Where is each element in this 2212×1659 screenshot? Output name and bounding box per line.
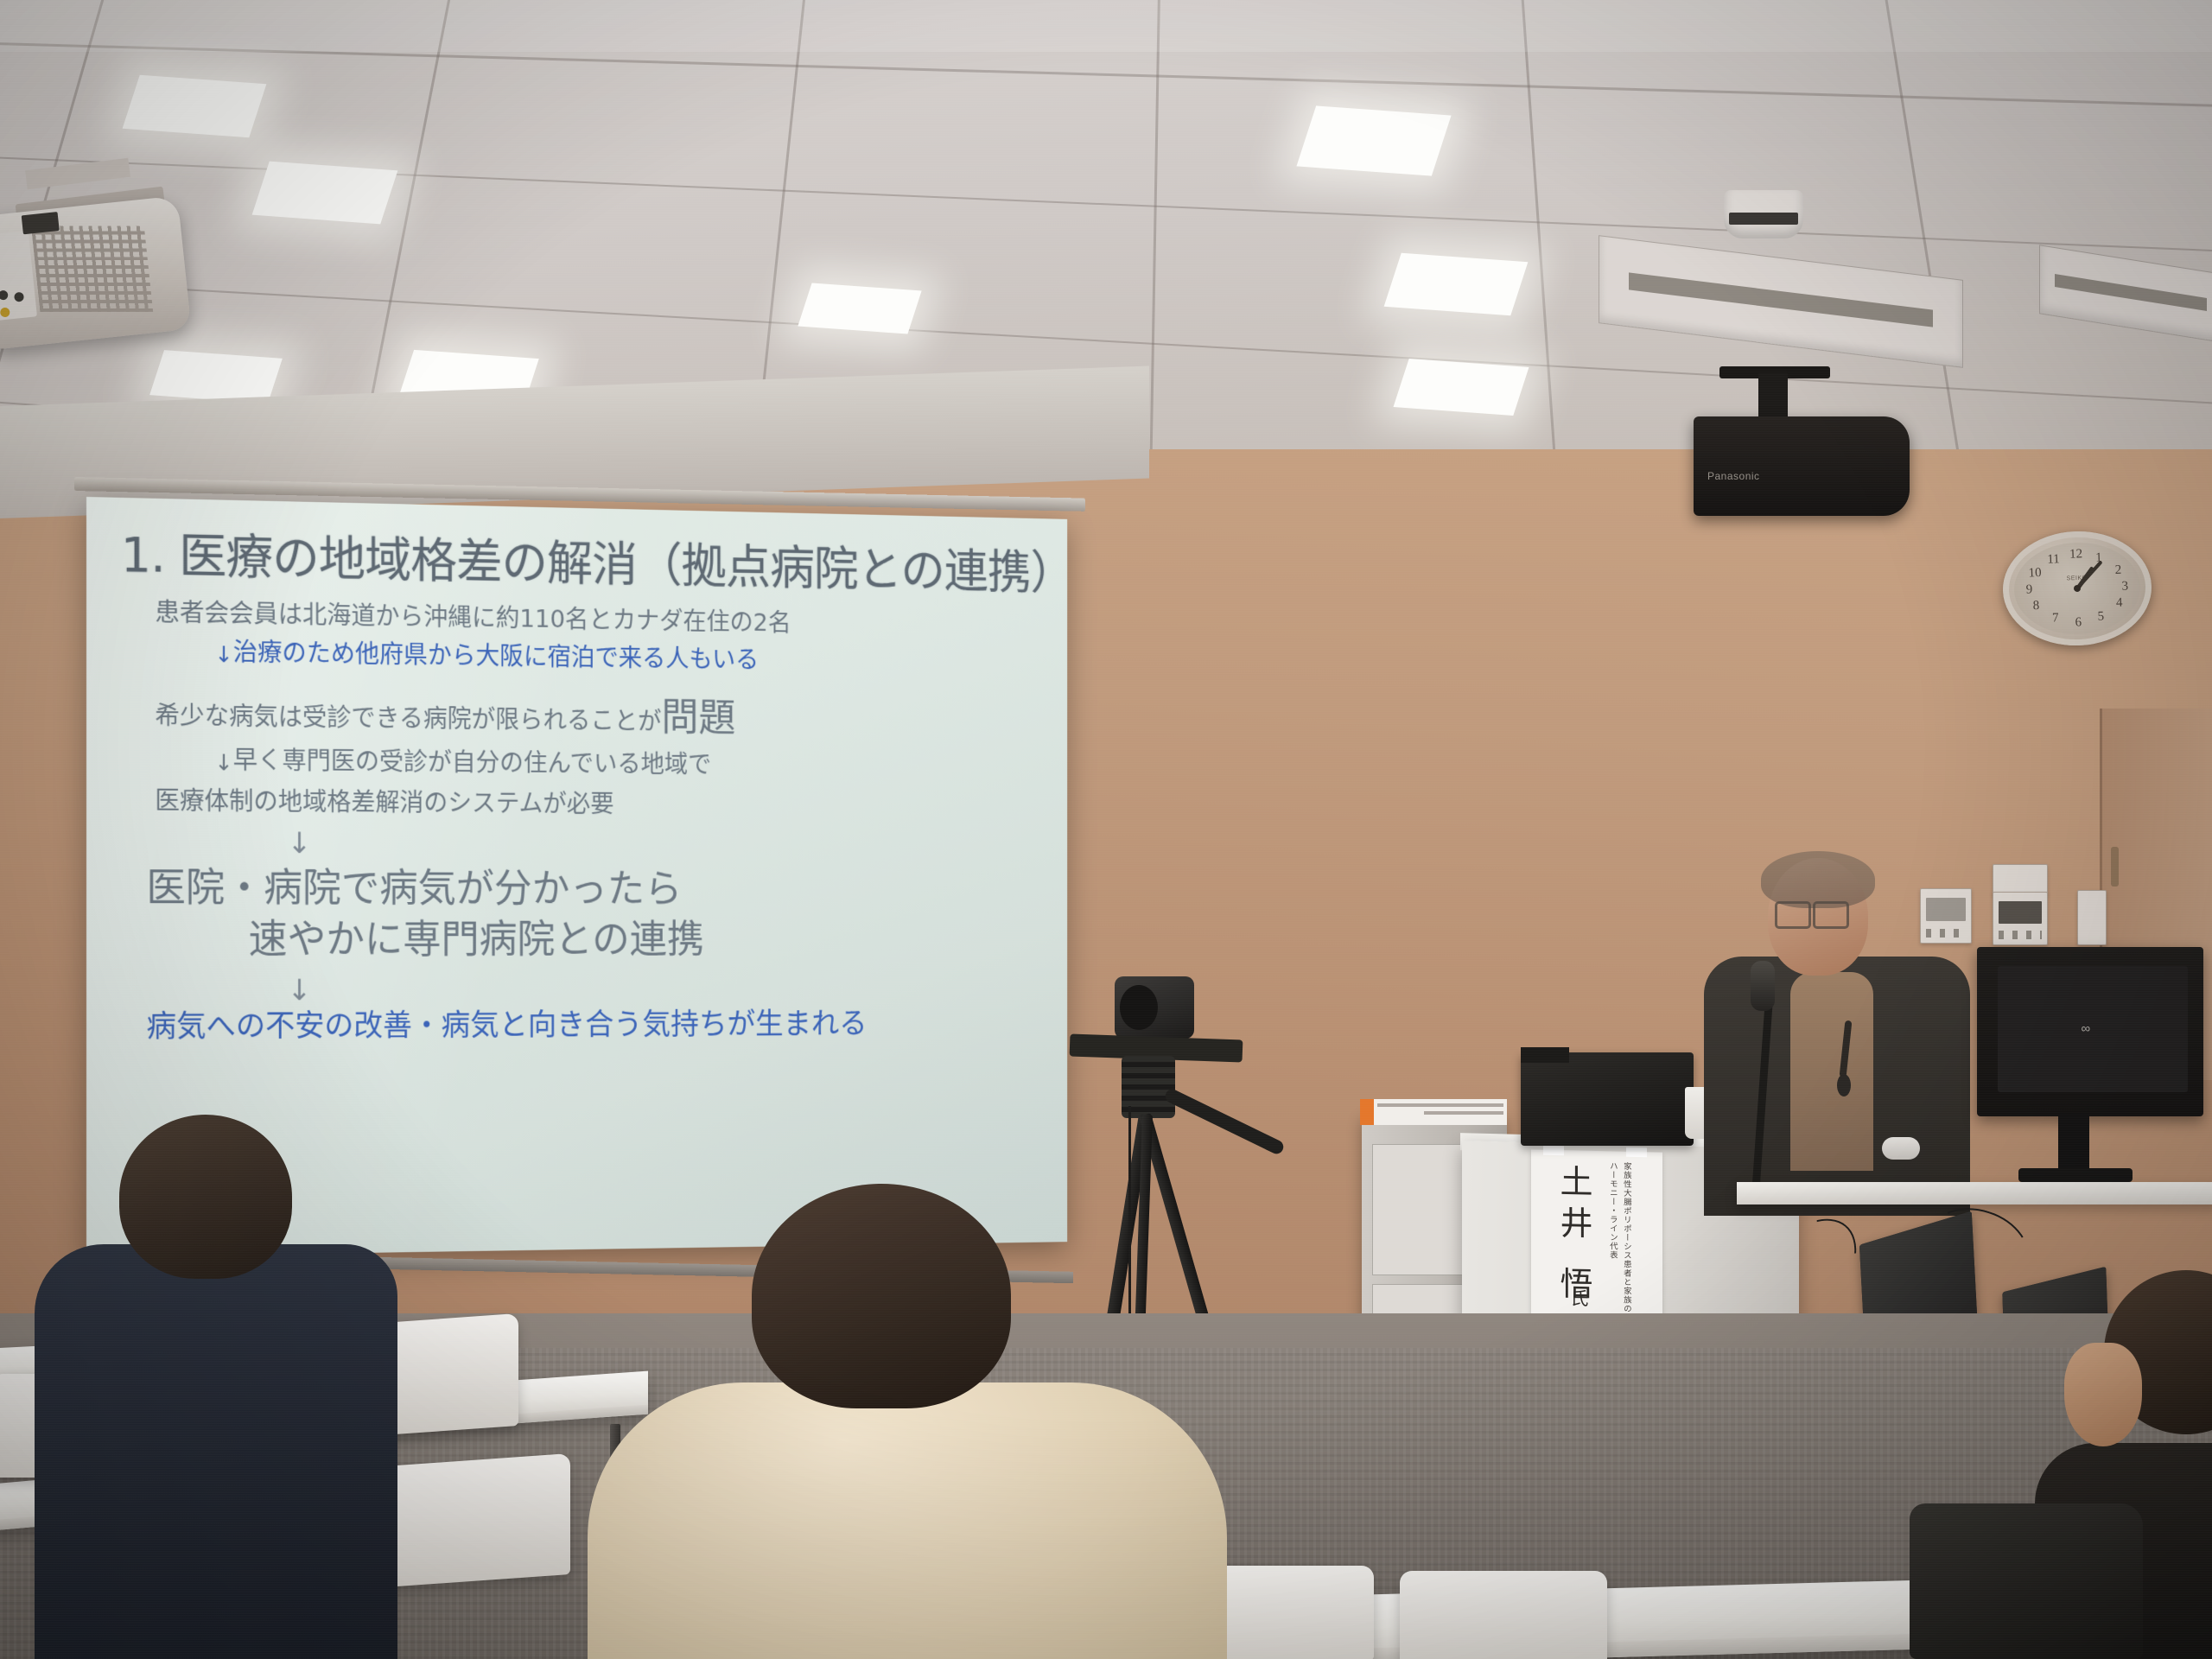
backpack [1910,1503,2143,1659]
presenter [1711,851,1961,1214]
projector-vent-grille [31,226,153,311]
eyeglasses-icon [1775,901,1811,929]
ceiling-light [123,75,267,137]
cabinet-warning-sign [1360,1099,1507,1125]
ceiling-smoke-detector [1724,190,1803,238]
ceiling-light [252,162,398,225]
tripod-pan-handle[interactable] [1163,1087,1286,1156]
presenter-hair [1761,851,1875,908]
presenter-shirt [1790,972,1873,1171]
camera-lens-icon [1120,985,1158,1030]
chair[interactable] [372,1453,570,1588]
microphone-icon [1751,961,1775,1011]
slide-line-5: 医療体制の地域格差解消のシステムが必要 [155,785,613,817]
lecture-room-photo: Panasonic SEIKO 12 1 2 3 4 5 6 7 8 9 10 … [0,0,2212,1659]
computer-mouse[interactable] [1882,1137,1920,1160]
slide-conclusion-1: 医院・病院で病気が分かったら [146,863,682,911]
monitor-base [2018,1168,2133,1182]
desktop-monitor-rear: ∞ [1977,947,2203,1116]
wall-control-panel[interactable] [1993,892,2048,945]
side-desk [1737,1182,2212,1205]
audience-member-face [2064,1343,2142,1446]
audience-member-suit [35,1244,397,1659]
monitor-stand [2058,1113,2089,1173]
ceiling-light [1296,105,1451,175]
audience-member [588,1184,1227,1659]
ceiling-light [149,350,283,404]
document-camera[interactable] [1521,1052,1694,1146]
monitor-brand-logo: ∞ [2082,1021,2090,1036]
placard-speaker-name: 土井 悟 [1550,1164,1598,1308]
slide-line-3-emphasis: 問題 [661,694,735,740]
document-camera-arm [1521,1047,1569,1063]
down-arrow-icon: ↓ [214,642,232,670]
placard-affiliation-line2: ハーモニー・ライン代表 [1607,1161,1618,1260]
placard-affiliation-line1: 家族性大腸ポリポーシス患者と家族の会 [1621,1162,1631,1323]
slide-line-1: 患者会会員は北海道から沖縄に約110名とカナダ在住の2名 [155,597,791,637]
ceiling-light [798,283,921,334]
down-arrow-icon: ↓ [214,750,232,778]
audience-member-sweater [588,1382,1227,1659]
clock-face: SEIKO 12 1 2 3 4 5 6 7 8 9 10 11 [2012,540,2142,636]
slide-line-3: 希少な病気は受診できる病院が限られることが [155,701,661,735]
eyeglasses-icon [1813,901,1849,929]
divider-down-arrow-icon: ↓ [121,828,1036,861]
wall-speaker: Panasonic [1694,416,1910,516]
speaker-mount-bracket [1758,373,1788,422]
presenter-pendant [1837,1074,1851,1096]
audience-member-head [119,1115,292,1279]
wall-control-panel[interactable] [1993,864,2048,895]
clock-center-hub [2074,585,2081,592]
chair[interactable] [1400,1571,1607,1659]
audience-member-head [752,1184,1011,1408]
slide-line-2: 治療のため他府県から大阪に宿泊で来る人もいる [233,638,759,674]
projector-display-strip [22,212,60,234]
slide-title: 1. 医療の地域格差の解消（拠点病院との連携） [121,529,1036,600]
ceiling-light [1384,253,1529,315]
ceiling-light [1394,359,1529,416]
placard-name-suffix: 氏 [1566,1288,1592,1307]
wall-light-switch[interactable] [2077,890,2107,945]
ceiling-projector [0,195,191,349]
slide-final-line: 病気への不安の改善・病気と向き合う気持ちが生まれる [146,1007,867,1045]
final-down-arrow-icon: ↓ [121,976,1036,1007]
speaker-brand-label: Panasonic [1707,470,1760,482]
audience-member [26,1115,389,1659]
slide-conclusion-2: 速やかに専門病院との連携 [249,915,704,962]
slide-line-4: 早く専門医の受診が自分の住んでいる地域で [233,746,712,779]
